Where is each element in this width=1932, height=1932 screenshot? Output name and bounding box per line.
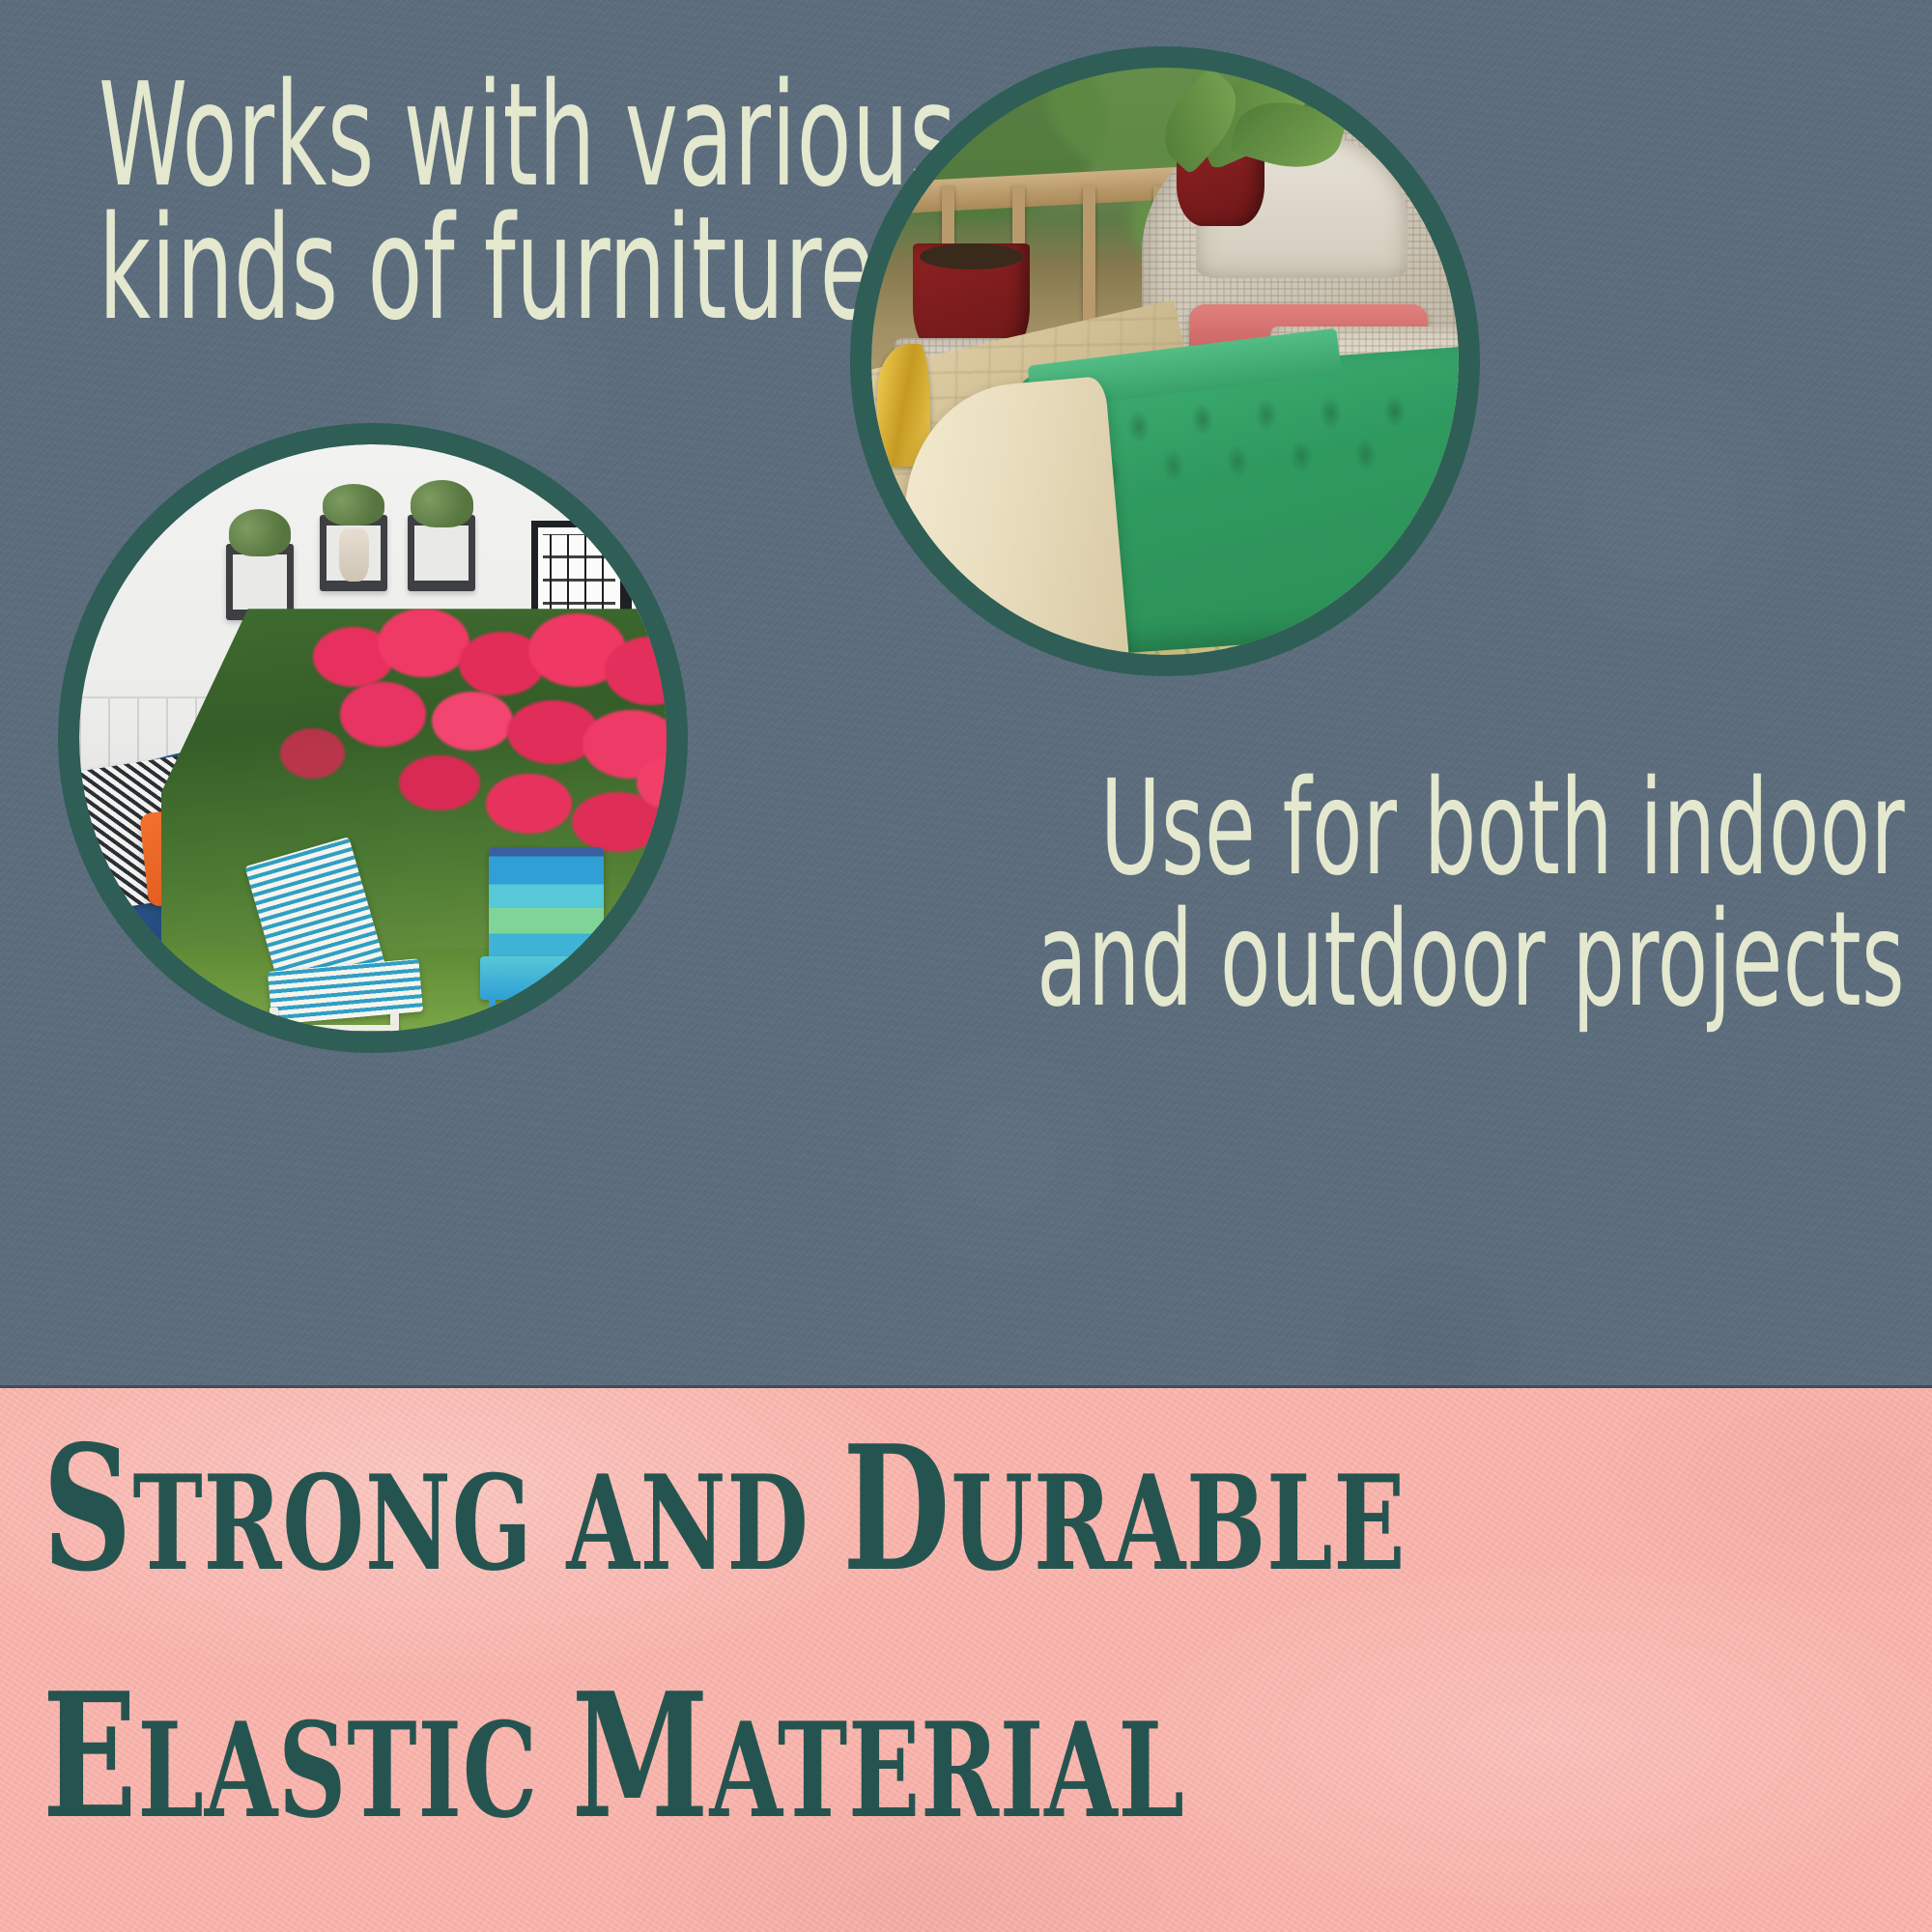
shelf-plant — [323, 484, 384, 526]
headline-line-2: kinds of furniture — [99, 203, 869, 336]
banner-line-2-cap2: M — [572, 1655, 710, 1857]
shelf-plant — [229, 509, 291, 556]
headline-line-1: Works with various — [99, 70, 869, 203]
bougainvillea-bloom — [432, 692, 513, 752]
beach-chair-leg — [594, 996, 601, 1032]
photo-bottom-left-inner: nest smile — [79, 444, 667, 1032]
bottom-banner: STRONG AND DURABLE ELASTIC MATERIAL — [0, 1388, 1932, 1932]
wall-shelf — [408, 515, 475, 591]
beach-chair-back — [489, 847, 604, 964]
banner-line-1: STRONG AND DURABLE — [43, 1423, 1406, 1595]
bougainvillea-bloom — [378, 609, 469, 677]
subhead: Use for both indoor and outdoor projects — [674, 763, 1905, 1026]
wall-shelf — [320, 515, 387, 591]
banner-line-2-rest2: ATERIAL — [709, 1693, 1184, 1847]
banner-line-1-cap: S — [43, 1407, 132, 1609]
banner-line-1-cap2: D — [842, 1407, 951, 1609]
bougainvillea-bloom — [280, 728, 345, 779]
bougainvillea-bloom — [340, 682, 426, 746]
ceramic-vase — [339, 528, 369, 582]
poster-canvas: Works with various kinds of furniture Us… — [0, 0, 1932, 1932]
garden-scene — [161, 609, 667, 1032]
bougainvillea-bloom — [486, 774, 572, 834]
beach-chair-seat — [480, 956, 612, 1001]
banner-line-1-rest: TRONG AND — [132, 1446, 842, 1600]
lounger-frame-rail — [270, 1025, 399, 1031]
folding-beach-chair — [475, 847, 615, 1032]
banner-line-2: ELASTIC MATERIAL — [43, 1670, 1185, 1842]
patio-lounge-chair — [205, 879, 421, 1032]
living-room-scene: nest smile — [79, 444, 667, 1032]
banner-line-2-cap: E — [43, 1655, 137, 1857]
headline: Works with various kinds of furniture — [99, 70, 869, 335]
banner-line-2-rest: LASTIC — [137, 1693, 571, 1847]
bougainvillea-bloom — [399, 755, 480, 810]
shelf-inner — [414, 526, 469, 581]
potting-soil — [920, 243, 1023, 270]
shelf-inner — [233, 554, 287, 610]
banner-line-1-rest2: URABLE — [951, 1446, 1406, 1600]
subhead-line-1: Use for both indoor — [674, 763, 1905, 895]
shelf-plant — [411, 480, 472, 527]
photo-circle-top-right — [850, 46, 1480, 676]
photo-top-right-inner — [871, 68, 1459, 655]
photo-circle-bottom-left: nest smile — [58, 423, 688, 1053]
subhead-line-2: and outdoor projects — [674, 895, 1905, 1026]
beach-chair-leg — [489, 996, 496, 1032]
porch-scene — [871, 68, 1459, 655]
